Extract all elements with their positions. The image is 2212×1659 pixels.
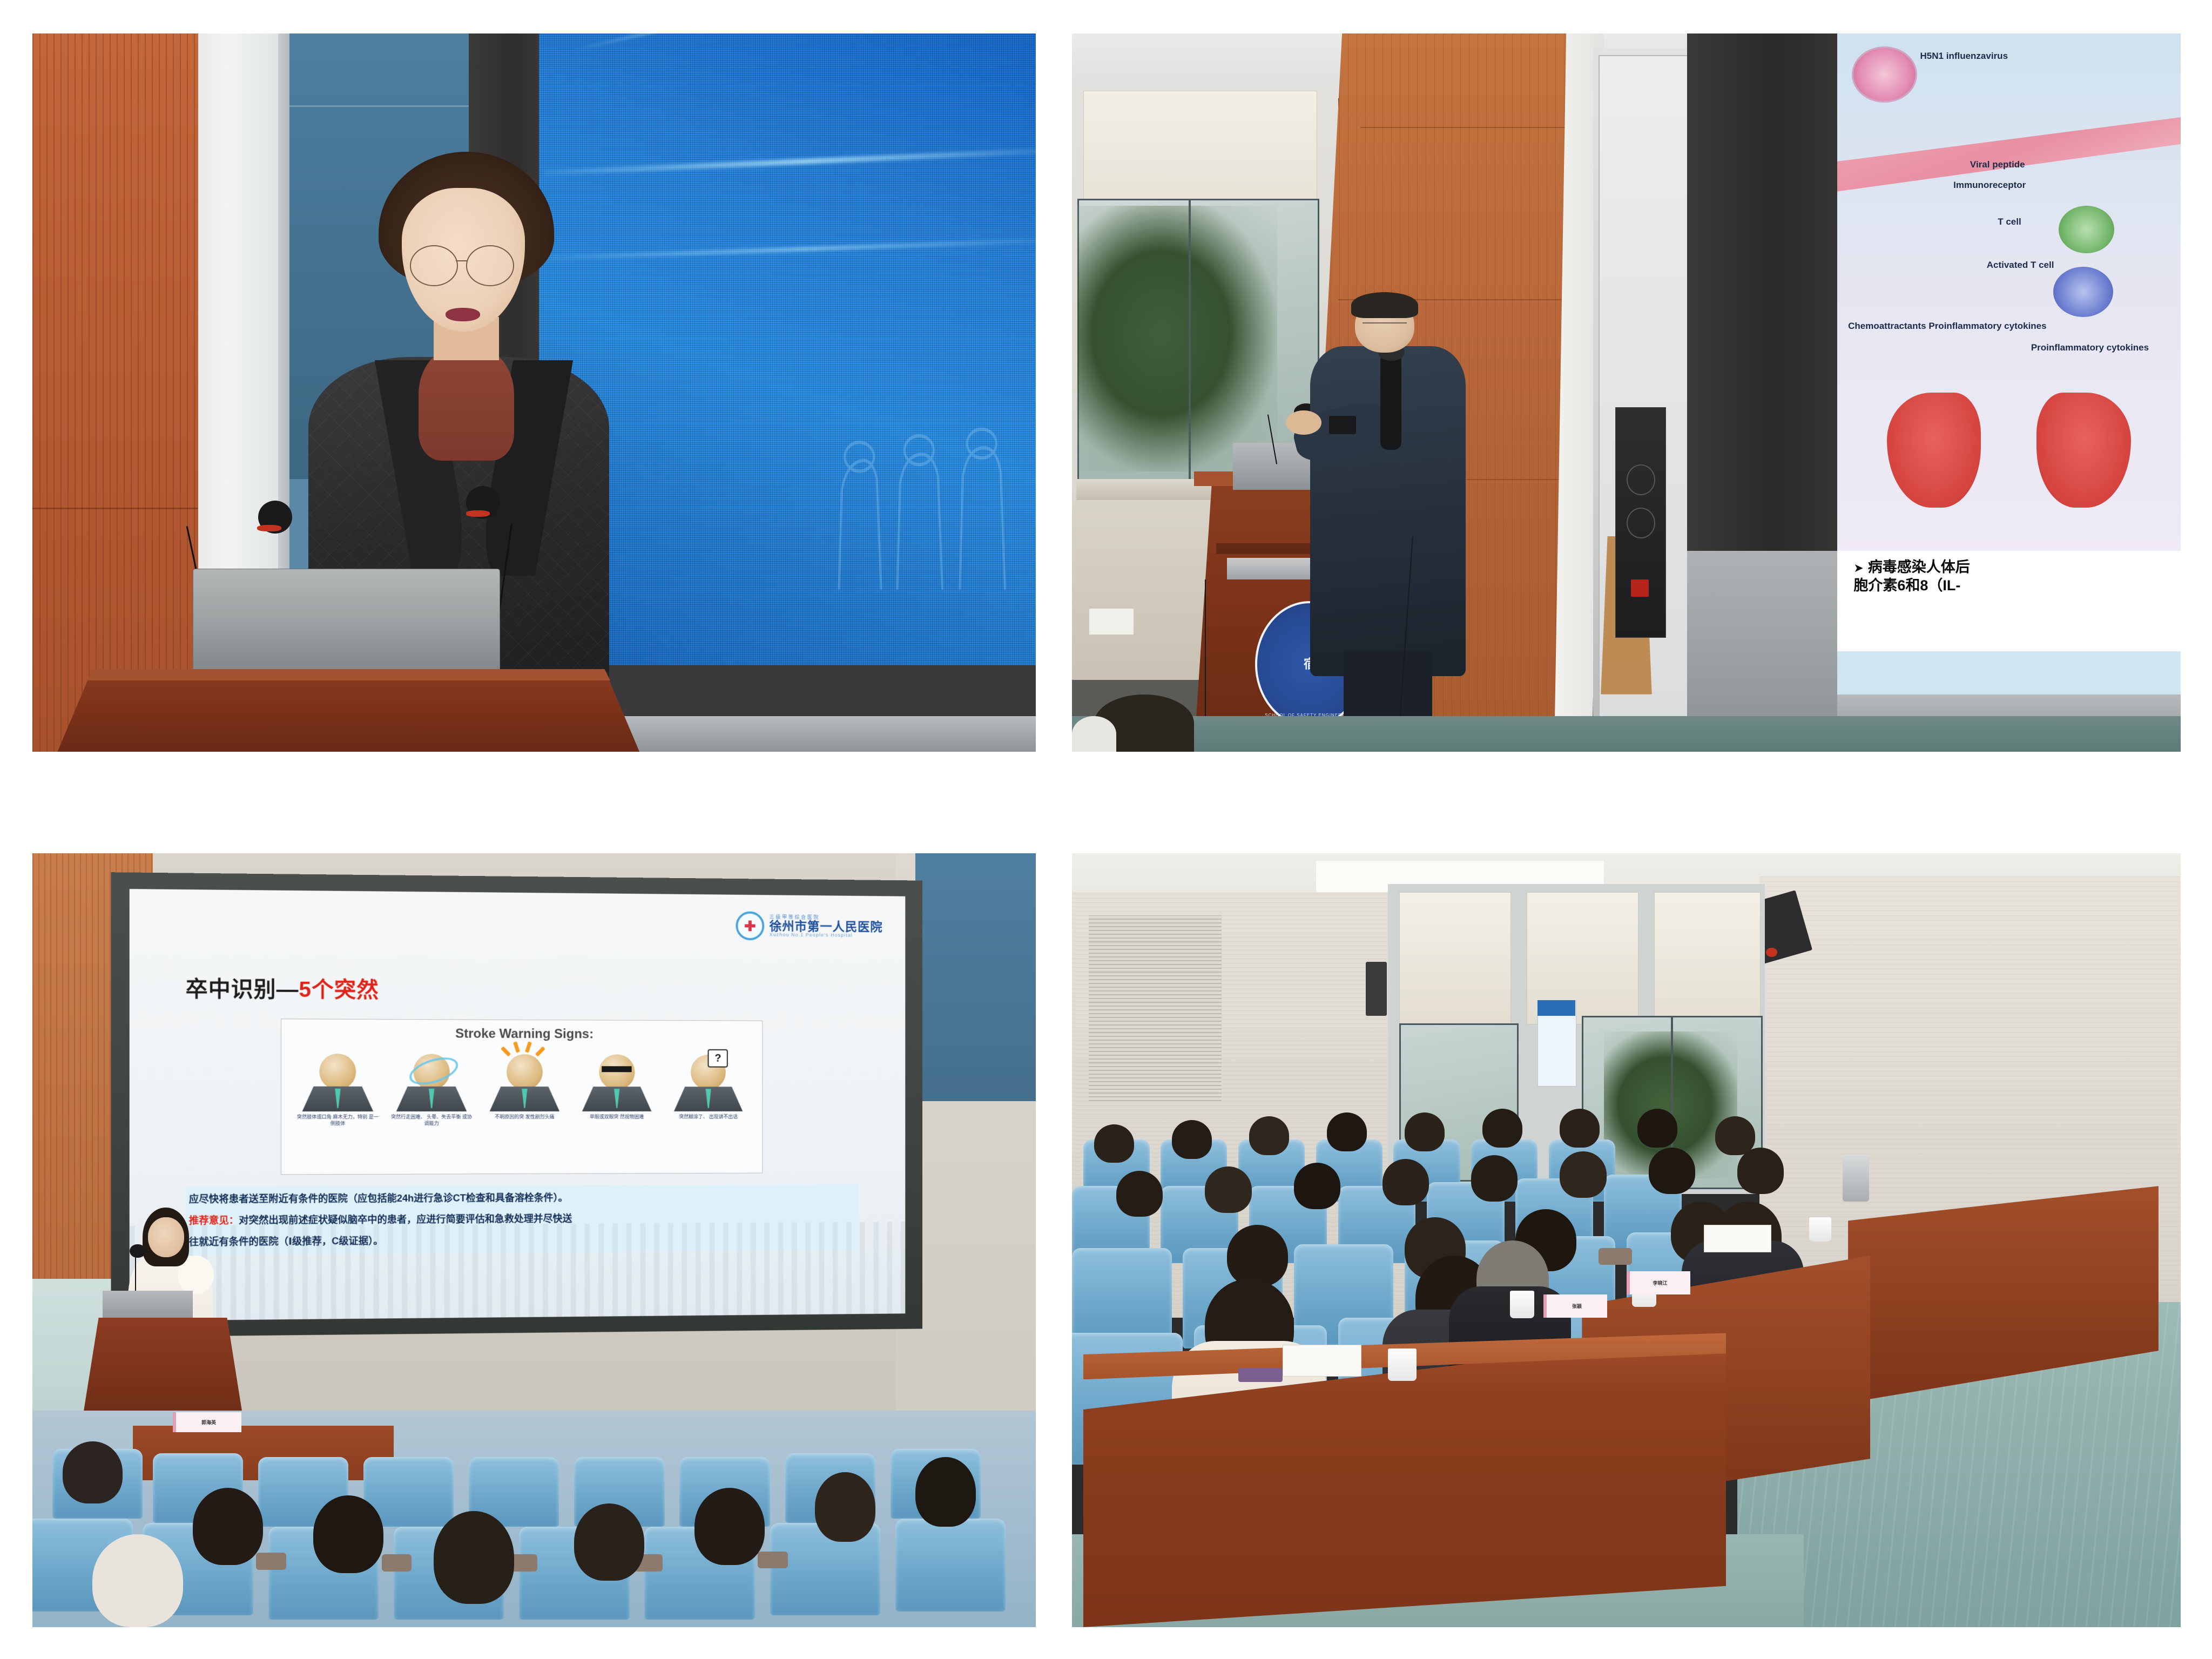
slide-title: 卒中识别—5个突然 [186, 971, 379, 1003]
warning-sign-caption: 突然行走困难、 头晕、失去平衡 或协调能力 [390, 1114, 473, 1127]
headache-ray-icon [525, 1042, 532, 1053]
microphone-icon [130, 1244, 146, 1258]
audience-head [1382, 1159, 1429, 1205]
paper-cup [1388, 1348, 1417, 1381]
slide-virus-particle [1853, 48, 1916, 101]
slide-chinese-caption: ➤病毒感染人体后 胞介素6和8（IL- [1853, 558, 2175, 595]
figure-tie [429, 1089, 434, 1108]
name-card: 张颖 [1543, 1294, 1608, 1318]
presentation-clicker [1329, 416, 1355, 435]
photo-top-right: H5N1 influenzavirus Viral peptide Immuno… [1072, 33, 2181, 752]
warning-sign-2: 突然行走困难、 头晕、失去平衡 或协调能力 [390, 1054, 473, 1168]
led-video-wall [539, 33, 1036, 665]
figure-head [414, 1054, 450, 1090]
figure-head [599, 1054, 635, 1090]
figure-tie [706, 1089, 711, 1108]
audience-head [1560, 1109, 1600, 1148]
figure-tie [335, 1089, 341, 1108]
audience-head [1560, 1151, 1606, 1198]
photo-top-left [32, 33, 1036, 752]
window-blind [1083, 91, 1317, 214]
slide-title-black: 卒中识别— [186, 977, 299, 1002]
figure-body [489, 1087, 559, 1111]
audience-head [1227, 1225, 1288, 1287]
audience-head [1094, 1124, 1134, 1163]
slide-caption-line-2: 胞介素6和8（IL- [1853, 577, 1960, 594]
question-mark-icon: ? [708, 1049, 728, 1068]
warning-sign-caption: 单眼或双眼突 然视物困难 [576, 1114, 657, 1121]
audience-head [815, 1472, 875, 1542]
warning-signs-heading: Stroke Warning Signs: [281, 1026, 762, 1042]
open-notebook [1704, 1225, 1771, 1252]
audience-head [313, 1495, 383, 1573]
medical-cross-icon [736, 911, 764, 940]
led-wall-graphic [817, 368, 1036, 590]
slide-canvas: 三级甲等综合医院 徐州市第一人民医院 Xuzhou No.1 People's … [130, 889, 905, 1321]
slide-title-red: 5个突然 [299, 978, 379, 1002]
audience-head [1249, 1116, 1289, 1155]
window-mullion [1189, 199, 1191, 486]
handheld-microphone [1380, 353, 1401, 450]
tree-outside [1077, 206, 1277, 471]
warning-sign-3: 不明原因的突 发性剧烈头痛 [484, 1054, 565, 1168]
speaker-knob [1627, 464, 1655, 495]
audience-head [694, 1488, 765, 1565]
audience-head [1637, 1109, 1677, 1148]
slide-activated-t-cell [2053, 267, 2113, 317]
eyeglasses-lens-left [410, 245, 458, 286]
audience-head [915, 1457, 975, 1527]
microphone-accent-ring [466, 510, 490, 517]
podium-mic-stem [135, 1256, 136, 1294]
figure-head [507, 1054, 542, 1090]
warning-sign-caption: 不明原因的突 发性剧烈头痛 [484, 1114, 565, 1121]
figure-tie [522, 1089, 527, 1108]
vision-loss-bar-icon [602, 1067, 632, 1073]
name-card: 郭海英 [173, 1412, 241, 1432]
paper-cup [1809, 1217, 1831, 1242]
warning-signs-row: 突然肢体或口角 麻木无力，特别 是一侧肢体 突然行走困难、 头晕、失去平衡 或协… [296, 1054, 748, 1168]
window-shade [1654, 892, 1761, 1033]
slide-bottom-band [1837, 651, 2181, 694]
presenter-mouth [446, 308, 480, 321]
figure-head [320, 1054, 356, 1090]
warning-sign-4: 单眼或双眼突 然视物困难 [576, 1054, 657, 1167]
figure-body [302, 1087, 373, 1111]
seat-armrest [256, 1553, 286, 1570]
open-notebook [1283, 1345, 1361, 1377]
slide-label-immunoreceptor: Immunoreceptor [1953, 180, 2026, 191]
photo-bottom-left: 三级甲等综合医院 徐州市第一人民医院 Xuzhou No.1 People's … [32, 853, 1036, 1627]
projection-screen: 三级甲等综合医院 徐州市第一人民医院 Xuzhou No.1 People's … [130, 889, 905, 1321]
slide-body-line-1: 应尽快将患者送至附近有条件的医院（应包括能24h进行急诊CT检查和具备溶栓条件）… [189, 1190, 856, 1207]
eyeglasses [1363, 322, 1407, 334]
eyeglasses-bridge [456, 260, 467, 261]
headache-ray-icon [501, 1046, 511, 1056]
audience-head [1649, 1148, 1695, 1194]
audience-head [1471, 1155, 1518, 1202]
speaker-knob [1627, 508, 1655, 538]
photo-bottom-right: 张颖 李晓江 [1072, 853, 2181, 1627]
blue-panel-seam [289, 105, 480, 107]
audience-head [1072, 716, 1116, 752]
warning-sign-5: ? 突然糊涂了、 出现讲不出话 [668, 1054, 748, 1166]
audience-head [1172, 1120, 1212, 1159]
slide-label-cytokines: Proinflammatory cytokines [2031, 342, 2149, 353]
smartphone [1238, 1368, 1283, 1382]
audience-head [63, 1441, 123, 1503]
headache-ray-icon [513, 1042, 520, 1053]
blue-wall-panel [915, 853, 1036, 1101]
audience-head [574, 1503, 644, 1581]
figure-body [396, 1087, 467, 1111]
slide-building-watermark [130, 1222, 905, 1321]
audience-head [1482, 1109, 1522, 1148]
presenter-hair [1351, 292, 1418, 318]
floor [1072, 716, 2181, 752]
audience-head [1737, 1148, 1784, 1194]
wood-wall-seam [1360, 127, 1571, 128]
notice-board-header [1537, 1000, 1575, 1016]
seat-armrest [382, 1554, 412, 1572]
dizziness-swirl-icon [406, 1053, 461, 1090]
slide-label-h5n1: H5N1 influenzavirus [1920, 51, 2008, 62]
hospital-logo-name-cn: 徐州市第一人民医院 [770, 920, 883, 934]
audience-head [1116, 1171, 1163, 1217]
audience-head [434, 1511, 514, 1604]
slide-t-cell [2059, 206, 2114, 253]
audience-head [1205, 1166, 1251, 1213]
audience-head [1715, 1116, 1755, 1155]
paper-cup [1510, 1291, 1534, 1319]
warning-sign-1: 突然肢体或口角 麻木无力，特别 是一侧肢体 [296, 1054, 379, 1168]
podium [83, 1318, 243, 1418]
warning-signs-box: Stroke Warning Signs: 突然肢体或口角 麻木无力，特别 是一… [281, 1019, 763, 1175]
thermos [1843, 1155, 1869, 1202]
eyeglasses-lens-right [466, 245, 514, 286]
figure-head: ? [691, 1054, 726, 1090]
audience-head [1327, 1112, 1367, 1151]
hospital-logo: 三级甲等综合医院 徐州市第一人民医院 Xuzhou No.1 People's … [736, 911, 882, 941]
figure-tie [614, 1089, 619, 1108]
wall-socket [1089, 608, 1134, 635]
slide-label-chemoattractants: Chemoattractants Proinflammatory cytokin… [1848, 321, 2047, 332]
projection-screen-frame: 三级甲等综合医院 徐州市第一人民医院 Xuzhou No.1 People's … [111, 872, 922, 1337]
warning-sign-caption: 突然肢体或口角 麻木无力，特别 是一侧肢体 [296, 1114, 379, 1127]
slide-label-activated-t-cell: Activated T cell [1987, 260, 2054, 271]
podium [57, 669, 639, 752]
window-shade [1399, 892, 1511, 1025]
name-card: 李晓江 [1627, 1271, 1691, 1294]
wall-acoustic-grill [1089, 915, 1222, 1101]
audience-head [92, 1534, 183, 1627]
loudspeaker-icon [1366, 962, 1387, 1016]
microphone-accent-ring [257, 525, 281, 531]
auditorium-seat[interactable] [895, 1519, 1006, 1611]
seat-armrest [758, 1552, 788, 1569]
audience-head [193, 1488, 263, 1565]
slide-label-viral-peptide: Viral peptide [1970, 159, 2025, 170]
seat-armrest [1599, 1248, 1632, 1265]
photo-collage: H5N1 influenzavirus Viral peptide Immuno… [0, 0, 2212, 1659]
speaker-power-led [1631, 579, 1649, 597]
laptop-icon [193, 569, 500, 681]
presenter-face [148, 1217, 184, 1258]
audience-head [1294, 1163, 1340, 1209]
figure-body [674, 1087, 743, 1111]
slide-label-t-cell: T cell [1998, 217, 2021, 227]
projected-slide [1837, 33, 2181, 551]
wood-wall-panel [32, 33, 213, 752]
figure-body [582, 1087, 651, 1111]
warning-sign-caption: 突然糊涂了、 出现讲不出话 [668, 1114, 748, 1121]
arrow-bullet-icon: ➤ [1853, 561, 1863, 575]
slide-caption-line-1: 病毒感染人体后 [1868, 559, 1970, 575]
speaker-power-led [1766, 948, 1777, 957]
audience-head [1405, 1112, 1445, 1151]
slide-body-red-prefix: 推荐意见： [189, 1215, 239, 1226]
podium-top [57, 669, 639, 680]
headache-ray-icon [535, 1047, 545, 1057]
turtleneck-sweater [419, 346, 514, 461]
